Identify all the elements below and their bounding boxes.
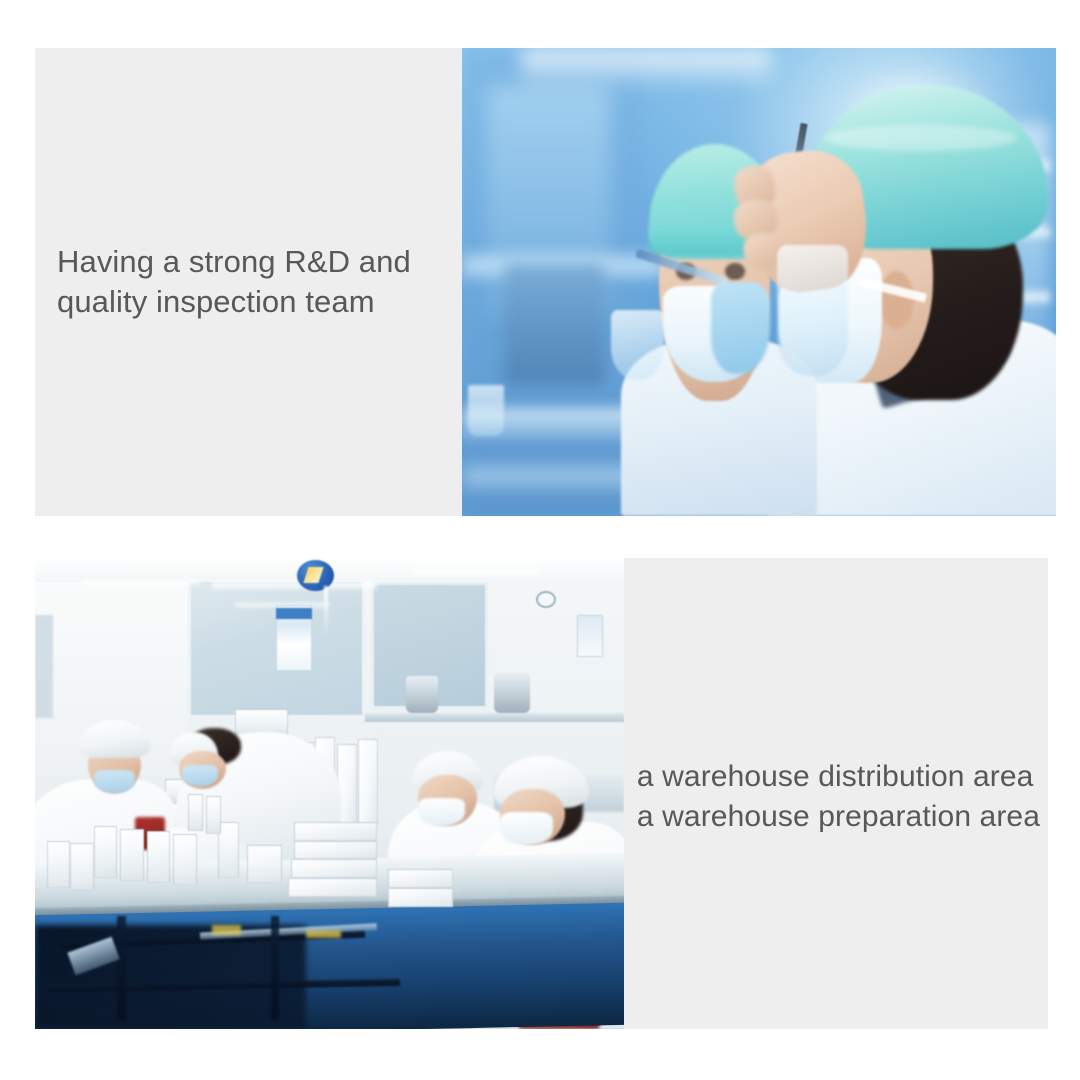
lab-worker-center-mask-blue — [711, 282, 771, 374]
page-root: Having a strong R&D and quality inspecti… — [0, 0, 1080, 1080]
rnd-caption-line-1: Having a strong R&D and — [57, 242, 452, 282]
carton-right-flat-1 — [388, 869, 453, 888]
carton-bottle-like-1 — [188, 794, 203, 832]
carton-flat-stack-4 — [288, 878, 376, 897]
carton-flat-stack-3 — [291, 859, 376, 878]
warehouse-worker-front-right-face-mask — [500, 812, 553, 845]
lab-ceiling-light — [521, 48, 770, 90]
carton-mid-upright — [247, 845, 282, 883]
warehouse-yellow-marker-2 — [306, 930, 341, 938]
carton-flat-stack-1 — [294, 822, 376, 841]
lab-worker-right-hairnet-fold — [824, 125, 1016, 152]
carton-column-4 — [358, 739, 378, 824]
warehouse-strip-light-4 — [412, 569, 542, 574]
warehouse-back-shelf — [365, 713, 624, 721]
carton-right-flat-2 — [388, 888, 453, 907]
carton-front-2 — [120, 829, 144, 881]
lab-small-flask — [611, 310, 664, 380]
carton-bottle-like-2 — [206, 796, 221, 834]
rnd-caption-line-2: quality inspection team — [57, 282, 452, 322]
lab-bench-lower — [462, 465, 640, 488]
lab-rd-quality-inspection-photo — [462, 48, 1056, 516]
section-rnd-quality: Having a strong R&D and quality inspecti… — [35, 48, 1056, 516]
warehouse-strip-light-2 — [212, 582, 377, 588]
warehouse-text-panel: a warehouse distribution area a warehous… — [624, 558, 1048, 1029]
warehouse-table-leg-2 — [271, 916, 279, 1020]
lab-glass-flask — [777, 245, 848, 376]
warehouse-caption-line-2: a warehouse preparation area — [637, 797, 1040, 837]
warehouse-steel-pot-2 — [494, 673, 529, 713]
carton-front-6 — [70, 843, 94, 890]
carton-front-1 — [94, 826, 118, 878]
warehouse-worker-middle-face-mask — [418, 798, 465, 826]
warehouse-wall-poster — [577, 615, 604, 657]
warehouse-steel-pot-1 — [406, 676, 438, 714]
carton-front-3 — [147, 831, 171, 883]
carton-flat-stack-2 — [294, 841, 376, 860]
warehouse-strip-light-1 — [82, 580, 200, 585]
warehouse-notice-header-bar — [276, 608, 311, 619]
warehouse-wall-clock-icon — [536, 591, 556, 608]
carton-front-5 — [47, 841, 71, 888]
warehouse-table-leg-1 — [117, 916, 125, 1020]
warehouse-worker-bending-face-mask — [182, 765, 217, 786]
lab-worker-right-ear — [879, 271, 914, 329]
section-warehouse: a warehouse distribution area a warehous… — [35, 558, 1048, 1029]
lab-beaker — [468, 385, 504, 436]
carton-front-4 — [173, 834, 197, 886]
warehouse-packing-photo — [35, 558, 624, 1029]
warehouse-wall-seam — [35, 615, 53, 719]
warehouse-yellow-marker-1 — [212, 925, 241, 934]
warehouse-caption-line-1: a warehouse distribution area — [637, 757, 1040, 797]
lab-equipment-box — [504, 263, 605, 385]
lab-worker-center-eye-right — [725, 263, 744, 280]
rnd-text-panel: Having a strong R&D and quality inspecti… — [35, 48, 462, 516]
warehouse-hanging-cable — [324, 586, 328, 633]
